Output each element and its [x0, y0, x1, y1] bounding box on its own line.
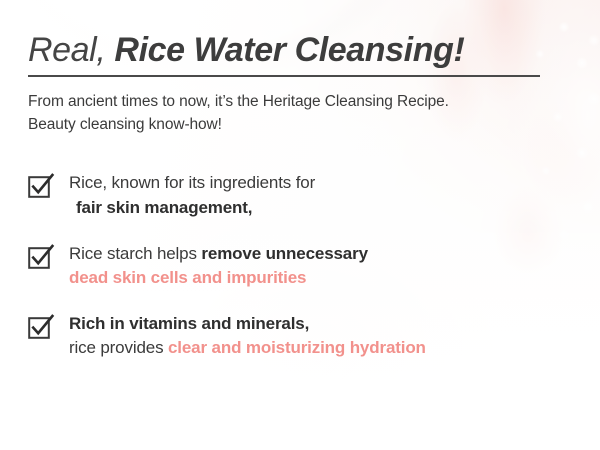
- benefit-list: Rice, known for its ingredients for fair…: [28, 137, 572, 361]
- list-item-line-2: fair skin management,: [69, 196, 315, 221]
- headline-bold: Rice Water Cleansing!: [105, 31, 464, 69]
- headline-regular: Real,: [28, 31, 105, 69]
- checkbox-checked-icon: [28, 314, 54, 340]
- list-item-line-2: dead skin cells and impurities: [69, 266, 368, 291]
- list-item-line-2: rice provides clear and moisturizing hyd…: [69, 336, 426, 361]
- subheading-line-2: Beauty cleansing know-how!: [28, 114, 572, 137]
- checkbox-checked-icon: [28, 173, 54, 199]
- list-item-text: Rich in vitamins and minerals, rice prov…: [69, 312, 426, 361]
- list-item: Rice, known for its ingredients for fair…: [28, 171, 572, 220]
- text-regular: Rice starch helps: [69, 244, 201, 263]
- text-bold: remove unnecessary: [201, 244, 367, 263]
- list-item-line-1: Rich in vitamins and minerals,: [69, 312, 426, 337]
- text-accent: clear and moisturizing hydration: [168, 338, 426, 357]
- list-item-line-1: Rice starch helps remove unnecessary: [69, 242, 368, 267]
- banner-content: Real, Rice Water Cleansing! From ancient…: [0, 0, 600, 361]
- list-item: Rice starch helps remove unnecessary dea…: [28, 242, 572, 291]
- list-item-text: Rice starch helps remove unnecessary dea…: [69, 242, 368, 291]
- text-bold: fair skin management,: [76, 198, 252, 217]
- list-item-line-1: Rice, known for its ingredients for: [69, 171, 315, 196]
- text-accent: dead skin cells and impurities: [69, 268, 306, 287]
- subheading: From ancient times to now, it’s the Heri…: [28, 77, 572, 137]
- list-item-text: Rice, known for its ingredients for fair…: [69, 171, 315, 220]
- text-regular: rice provides: [69, 338, 168, 357]
- checkbox-checked-icon: [28, 244, 54, 270]
- promo-banner: Real, Rice Water Cleansing! From ancient…: [0, 0, 600, 450]
- subheading-line-1: From ancient times to now, it’s the Heri…: [28, 91, 572, 114]
- list-item: Rich in vitamins and minerals, rice prov…: [28, 312, 572, 361]
- page-title: Real, Rice Water Cleansing!: [28, 0, 572, 68]
- text-regular: Rice, known for its ingredients for: [69, 173, 315, 192]
- text-bold: Rich in vitamins and minerals,: [69, 314, 309, 333]
